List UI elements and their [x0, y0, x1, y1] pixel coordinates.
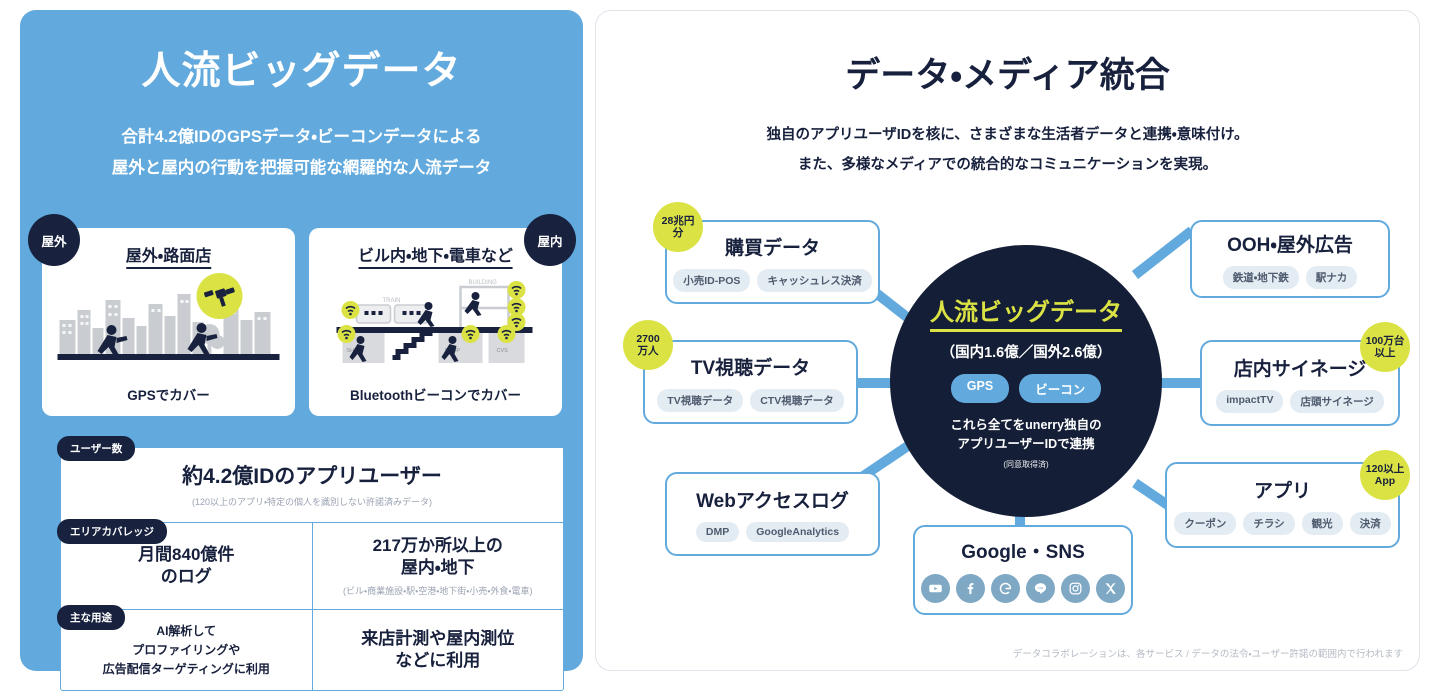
left-subtitle-line-2: 屋外と屋内の行動を把握可能な網羅的な人流データ — [20, 153, 583, 184]
tag-station-naka[interactable]: 駅ナカ — [1306, 266, 1358, 289]
tag-tv-viewing[interactable]: TV視聴データ — [657, 389, 743, 412]
ooh-outdoor-ad-tags: 鉄道・地下鉄 駅ナカ — [1223, 266, 1358, 289]
tag-payment[interactable]: 決済 — [1350, 512, 1391, 535]
tag-coupon[interactable]: クーポン — [1174, 512, 1236, 535]
hub-chip-gps[interactable]: GPS — [951, 374, 1009, 403]
svg-text:CVS: CVS — [497, 348, 509, 354]
node-google-sns[interactable]: Google・SNS LINE — [913, 525, 1133, 615]
node-web-access-log[interactable]: Webアクセスログ DMP GoogleAnalytics — [665, 472, 880, 556]
facebook-icon[interactable] — [956, 574, 985, 603]
stats-label-user-count: ユーザー数 — [57, 436, 135, 461]
tv-viewing-data-tags: TV視聴データ CTV視聴データ — [657, 389, 843, 412]
purchase-badge-line-2: 分 — [673, 227, 684, 239]
google-icon[interactable] — [991, 574, 1020, 603]
app-badge: 120以上App — [1360, 450, 1410, 500]
app-title: アプリ — [1254, 476, 1311, 503]
hub-note: これら全てをunerry独自の アプリユーザーIDで連携 — [950, 416, 1101, 454]
coverage-right-line-2: 屋内・地下 — [319, 557, 558, 579]
hub-note-line-2: アプリユーザーIDで連携 — [950, 435, 1101, 454]
hub-chip-row: GPS ビーコン — [951, 374, 1101, 403]
tag-impacttv[interactable]: impactTV — [1216, 390, 1283, 413]
city-street-satellite-illustration — [50, 272, 287, 368]
app-badge-line-1: 120以上 — [1366, 463, 1405, 475]
app-badge-line-2: App — [1375, 475, 1395, 487]
svg-text:TRAIN: TRAIN — [383, 298, 401, 304]
tag-retail-id-pos[interactable]: 小売ID-POS — [673, 269, 750, 292]
ooh-outdoor-ad-title: OOH・屋外広告 — [1227, 230, 1353, 257]
instagram-icon[interactable] — [1061, 574, 1090, 603]
in-store-signage-tags: impactTV 店頭サイネージ — [1216, 390, 1384, 413]
tag-dmp[interactable]: DMP — [696, 522, 739, 542]
stats-label-main-uses: 主な用途 — [57, 605, 125, 630]
purchase-data-badge: 28兆円分 — [653, 202, 703, 252]
stats-row-uses: AI解析して プロファイリングや 広告配信ターゲティングに利用 来店計測や屋内測… — [61, 609, 563, 690]
tag-google-analytics[interactable]: GoogleAnalytics — [746, 522, 849, 542]
tv-viewing-data-badge: 2700万人 — [623, 320, 673, 370]
stats-uses-right: 来店計測や屋内測位 などに利用 — [312, 610, 564, 690]
left-panel: 人流ビッグデータ 合計4.2億IDのGPSデータ・ビーコンデータによる 屋外と屋… — [20, 10, 583, 671]
line-icon[interactable]: LINE — [1026, 574, 1055, 603]
app-tags: クーポン チラシ 観光 決済 — [1174, 512, 1390, 535]
coverage-left-line-2: のログ — [67, 566, 306, 588]
infographic-stage: 人流ビッグデータ 合計4.2億IDのGPSデータ・ビーコンデータによる 屋外と屋… — [0, 0, 1440, 681]
outdoor-coverage-card: 屋外 屋外・路面店 — [42, 228, 295, 416]
tag-tourism[interactable]: 観光 — [1302, 512, 1343, 535]
web-access-log-tags: DMP GoogleAnalytics — [696, 522, 849, 542]
hub-fine-print: (同意取得済) — [1003, 459, 1048, 470]
uses-right-line-2: などに利用 — [319, 650, 558, 672]
indoor-badge: 屋内 — [524, 214, 576, 266]
signage-badge-line-1: 100万台 — [1366, 335, 1405, 347]
node-ooh-outdoor-ad[interactable]: OOH・屋外広告 鉄道・地下鉄 駅ナカ — [1190, 220, 1390, 298]
hub-chip-beacon[interactable]: ビーコン — [1019, 374, 1101, 403]
indoor-card-title: ビル内・地下・電車など — [358, 242, 513, 269]
youtube-icon[interactable] — [921, 574, 950, 603]
hub-title: 人流ビッグデータ — [930, 292, 1122, 332]
indoor-card-caption: Bluetoothビーコンでカバー — [309, 384, 562, 404]
stats-users-headline: 約4.2億IDのアプリユーザー — [67, 464, 557, 490]
purchase-data-tags: 小売ID-POS キャッシュレス決済 — [673, 269, 871, 292]
sns-icon-row: LINE — [921, 574, 1125, 603]
tv-badge-line-2: 万人 — [637, 345, 658, 357]
in-store-signage-badge: 100万台以上 — [1360, 322, 1410, 372]
tag-cashless-payment[interactable]: キャッシュレス決済 — [757, 269, 871, 292]
coverage-right-note: (ビル・商業施設・駅・空港・地下街・小売・外食・電車) — [319, 584, 558, 597]
tag-store-signage[interactable]: 店頭サイネージ — [1290, 390, 1383, 413]
stats-table: ユーザー数 約4.2億IDのアプリユーザー (120以上のアプリ・特定の個人を識… — [60, 446, 564, 691]
purchase-data-title: 購買データ — [725, 233, 820, 260]
svg-text:BUILDING: BUILDING — [469, 280, 498, 286]
signage-badge-line-2: 以上 — [1375, 347, 1396, 359]
purchase-badge-line-1: 28兆円 — [662, 215, 695, 227]
outdoor-card-title: 屋外・路面店 — [126, 242, 211, 269]
left-subtitle-line-1: 合計4.2億IDのGPSデータ・ビーコンデータによる — [20, 122, 583, 153]
stats-coverage-right: 217万か所以上の 屋内・地下 (ビル・商業施設・駅・空港・地下街・小売・外食・… — [312, 523, 564, 609]
indoor-coverage-card: 屋内 ビル内・地下・電車など BUILDING TRAIN — [309, 228, 562, 416]
uses-left-line-3: 広告配信ターゲティングに利用 — [67, 660, 306, 679]
left-panel-subtitle: 合計4.2億IDのGPSデータ・ビーコンデータによる 屋外と屋内の行動を把握可能… — [20, 122, 583, 185]
uses-left-line-2: プロファイリングや — [67, 641, 306, 660]
hub-subtitle: （国内1.6億／国外2.6億） — [941, 341, 1112, 362]
central-hub: 人流ビッグデータ （国内1.6億／国外2.6億） GPS ビーコン これら全てを… — [890, 245, 1162, 517]
hub-note-line-1: これら全てをunerry独自の — [950, 416, 1101, 435]
tv-viewing-data-title: TV視聴データ — [691, 353, 810, 380]
google-sns-title: Google・SNS — [961, 537, 1085, 564]
in-store-signage-title: 店内サイネージ — [1234, 354, 1367, 381]
stats-users-note: (120以上のアプリ・特定の個人を識別しない許諾済みデータ) — [67, 495, 557, 508]
tag-flyer[interactable]: チラシ — [1243, 512, 1294, 535]
stats-row-users: 約4.2億IDのアプリユーザー (120以上のアプリ・特定の個人を識別しない許諾… — [61, 447, 563, 522]
svg-text:LINE: LINE — [1038, 587, 1044, 590]
coverage-right-line-1: 217万か所以上の — [319, 535, 558, 557]
left-panel-title: 人流ビッグデータ — [20, 40, 583, 96]
stats-label-area-coverage: エリアカバレッジ — [57, 519, 167, 544]
outdoor-badge: 屋外 — [28, 214, 80, 266]
web-access-log-title: Webアクセスログ — [696, 486, 849, 513]
outdoor-card-caption: GPSでカバー — [42, 384, 295, 404]
coverage-cards: 屋外 屋外・路面店 — [42, 228, 562, 416]
node-tv-viewing-data[interactable]: TV視聴データ TV視聴データ CTV視聴データ — [643, 340, 858, 424]
tag-railway-subway[interactable]: 鉄道・地下鉄 — [1223, 266, 1299, 289]
uses-right-line-1: 来店計測や屋内測位 — [319, 628, 558, 650]
tag-ctv-viewing[interactable]: CTV視聴データ — [750, 389, 844, 412]
indoor-station-beacon-illustration: BUILDING TRAIN — [317, 272, 554, 368]
integration-diagram: 購買データ 小売ID-POS キャッシュレス決済 28兆円分 TV視聴データ T… — [595, 10, 1420, 671]
x-icon[interactable] — [1096, 574, 1125, 603]
coverage-left-line-1: 月間840億件 — [67, 544, 306, 566]
connector-ooh — [1132, 227, 1195, 279]
stats-users-cell: 約4.2億IDのアプリユーザー (120以上のアプリ・特定の個人を識別しない許諾… — [61, 448, 563, 522]
tv-badge-line-1: 2700 — [636, 333, 659, 345]
